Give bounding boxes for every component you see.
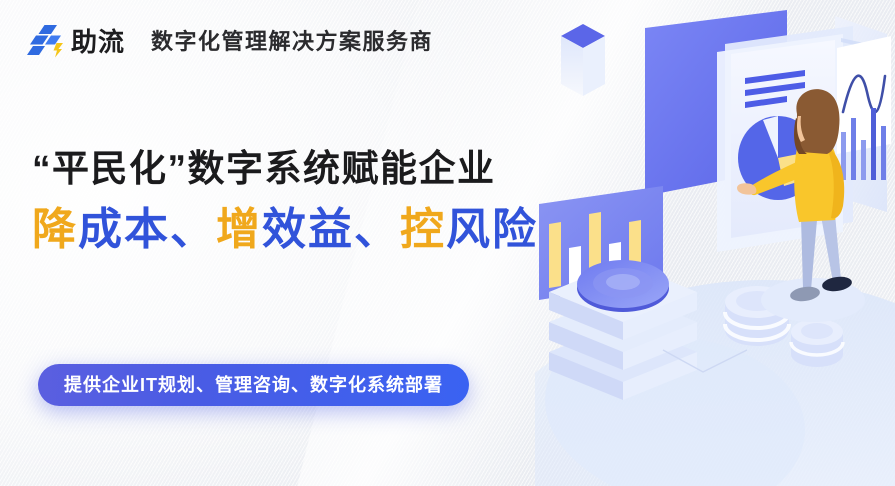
hero-headline-part-4: 效益、 — [262, 205, 400, 254]
promo-banner: 助流 数字化管理解决方案服务商 “平民化”数字系统赋能企业 降成本、增效益、控风… — [0, 0, 895, 486]
hero-headline-part-5: 控 — [400, 205, 446, 254]
hero-headline-part-6: 风险 — [446, 205, 538, 254]
hero-headline-primary: “平民化”数字系统赋能企业 — [32, 148, 538, 191]
data-analytics-woman-dashboard-illustration — [535, 0, 895, 486]
header-tagline: 数字化管理解决方案服务商 — [151, 31, 433, 53]
cta-services-button[interactable]: 提供企业IT规划、管理咨询、数字化系统部署 — [38, 364, 469, 406]
cta-services-label: 提供企业IT规划、管理咨询、数字化系统部署 — [64, 376, 443, 394]
hero-headline-part-1: 降 — [32, 205, 78, 254]
hero-headline-part-3: 增 — [216, 205, 262, 254]
hero-headline-secondary: 降成本、增效益、控风险 — [32, 205, 538, 256]
zhuliu-bolt-logo-icon[interactable] — [26, 22, 66, 62]
small-cube-icon — [561, 24, 605, 96]
hero-headline-part-2: 成本、 — [78, 205, 216, 254]
hero-copy: “平民化”数字系统赋能企业 降成本、增效益、控风险 — [32, 148, 538, 255]
site-header: 助流 数字化管理解决方案服务商 — [26, 22, 433, 62]
brand-name: 助流 — [71, 29, 125, 55]
